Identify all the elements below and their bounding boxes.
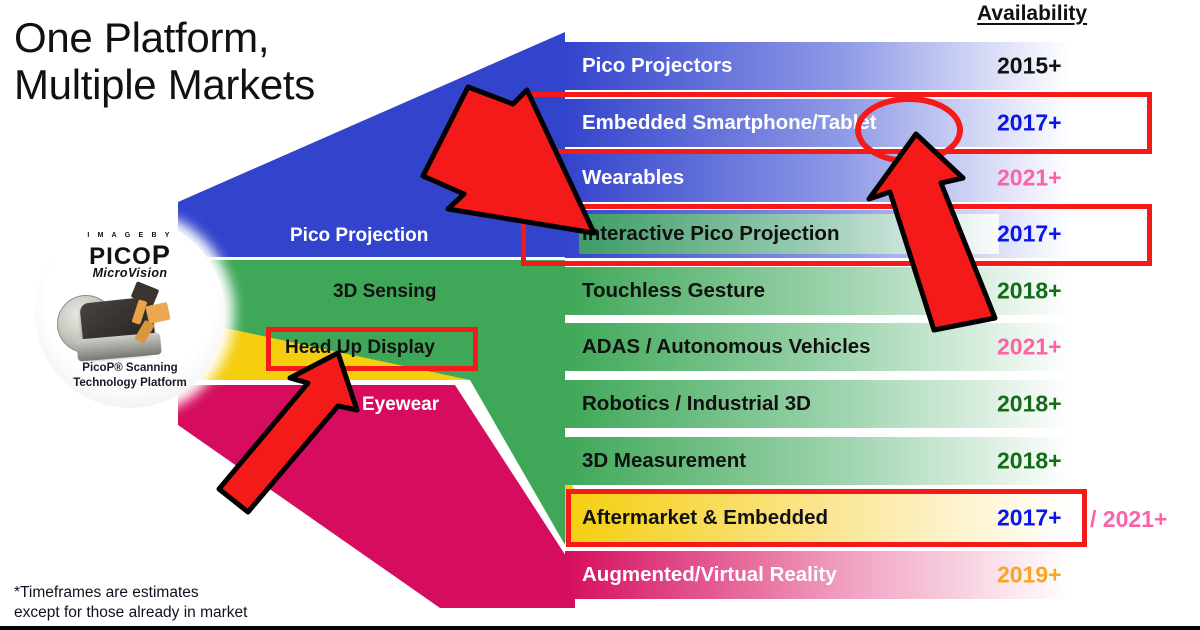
annotation-arrows xyxy=(0,0,1200,630)
bottom-divider xyxy=(0,626,1200,630)
arrow-to-head-up-display xyxy=(219,353,357,512)
arrow-to-interactive-pico-projection xyxy=(423,87,594,233)
arrow-to-embedded-smartphone-tablet xyxy=(869,134,995,330)
slide-canvas: One Platform, Multiple Markets *Timefram… xyxy=(0,0,1200,630)
